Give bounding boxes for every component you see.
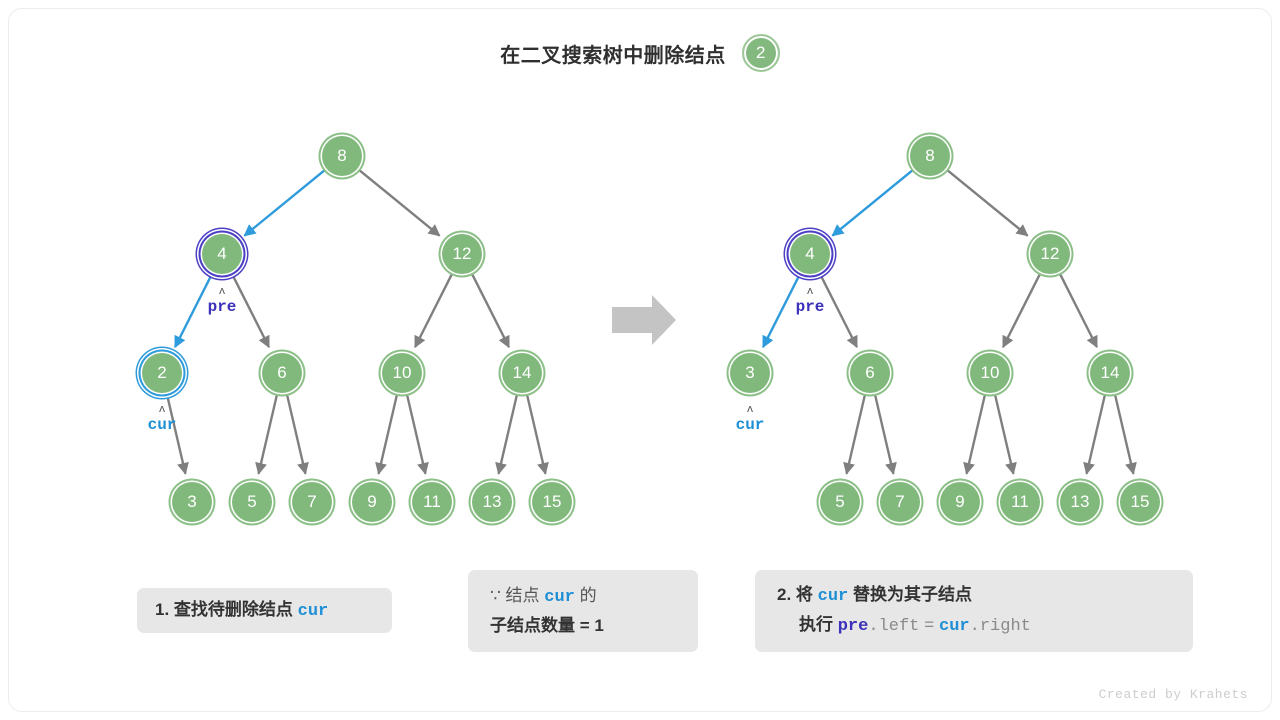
caption-step2: 2. 将 cur 替换为其子结点 执行 pre.left = cur.right <box>755 570 1193 652</box>
caption-step2-line2-pre: 执行 <box>799 615 833 634</box>
tree-node: 6 <box>850 353 890 393</box>
tree-node: 9 <box>940 482 980 522</box>
caption-step2-line2: 执行 pre.left = cur.right <box>777 611 1171 641</box>
tree-node: 4 <box>790 234 830 274</box>
tree-node: 5 <box>232 482 272 522</box>
tree-node: 3 <box>730 353 770 393</box>
tree-node: 6 <box>262 353 302 393</box>
caption-step2-cur-attr: .right <box>970 617 1031 636</box>
tree-node: 14 <box>1090 353 1130 393</box>
caption-reason-line1-code: cur <box>544 588 575 607</box>
tree-node: 11 <box>1000 482 1040 522</box>
diagram-canvas: 在二叉搜索树中删除结点 2 84122610143579111315ʌpreʌc… <box>0 0 1280 720</box>
tree-node: 2 <box>142 353 182 393</box>
right-block-arrow-icon <box>612 295 676 345</box>
caption-step1-prefix: 1. 查找待删除结点 <box>155 600 293 619</box>
caption-step2-cur-var: cur <box>939 617 970 636</box>
tree-node: 13 <box>472 482 512 522</box>
tree-node: 12 <box>1030 234 1070 274</box>
caption-step2-line1-post: 替换为其子结点 <box>853 585 972 604</box>
tree-node: 12 <box>442 234 482 274</box>
caption-step1: 1. 查找待删除结点 cur <box>137 588 392 633</box>
tree-node: 11 <box>412 482 452 522</box>
caption-step1-code: cur <box>298 602 329 621</box>
caption-step1-text: 1. 查找待删除结点 cur <box>155 596 374 626</box>
tree-node: 3 <box>172 482 212 522</box>
tree-node: 10 <box>382 353 422 393</box>
tree-node: 8 <box>322 136 362 176</box>
tree-node: 14 <box>502 353 542 393</box>
caption-step2-equals: = <box>924 617 934 636</box>
caption-step2-pre-attr: .left <box>868 617 919 636</box>
caption-step2-line1-pre: 2. 将 <box>777 585 813 604</box>
caption-step2-pre-var: pre <box>838 617 869 636</box>
caption-reason-line1-post: 的 <box>580 586 597 605</box>
caption-step2-line1: 2. 将 cur 替换为其子结点 <box>777 581 1171 611</box>
tree-node: 7 <box>880 482 920 522</box>
tree-node: 8 <box>910 136 950 176</box>
caption-reason-line1: ∵ 结点 cur 的 <box>490 582 676 612</box>
tree-node: 15 <box>1120 482 1160 522</box>
caption-reason-line1-pre: ∵ 结点 <box>490 586 540 605</box>
tree-node: 9 <box>352 482 392 522</box>
caption-reason-line2: 子结点数量 = 1 <box>490 612 676 640</box>
tree-node: 15 <box>532 482 572 522</box>
tree-node: 5 <box>820 482 860 522</box>
footer-credit: Created by Krahets <box>1099 687 1248 702</box>
caption-step2-line1-code: cur <box>818 587 849 606</box>
tree-node: 13 <box>1060 482 1100 522</box>
tree-node: 10 <box>970 353 1010 393</box>
tree-node: 4 <box>202 234 242 274</box>
caption-reason: ∵ 结点 cur 的 子结点数量 = 1 <box>468 570 698 652</box>
tree-node: 7 <box>292 482 332 522</box>
